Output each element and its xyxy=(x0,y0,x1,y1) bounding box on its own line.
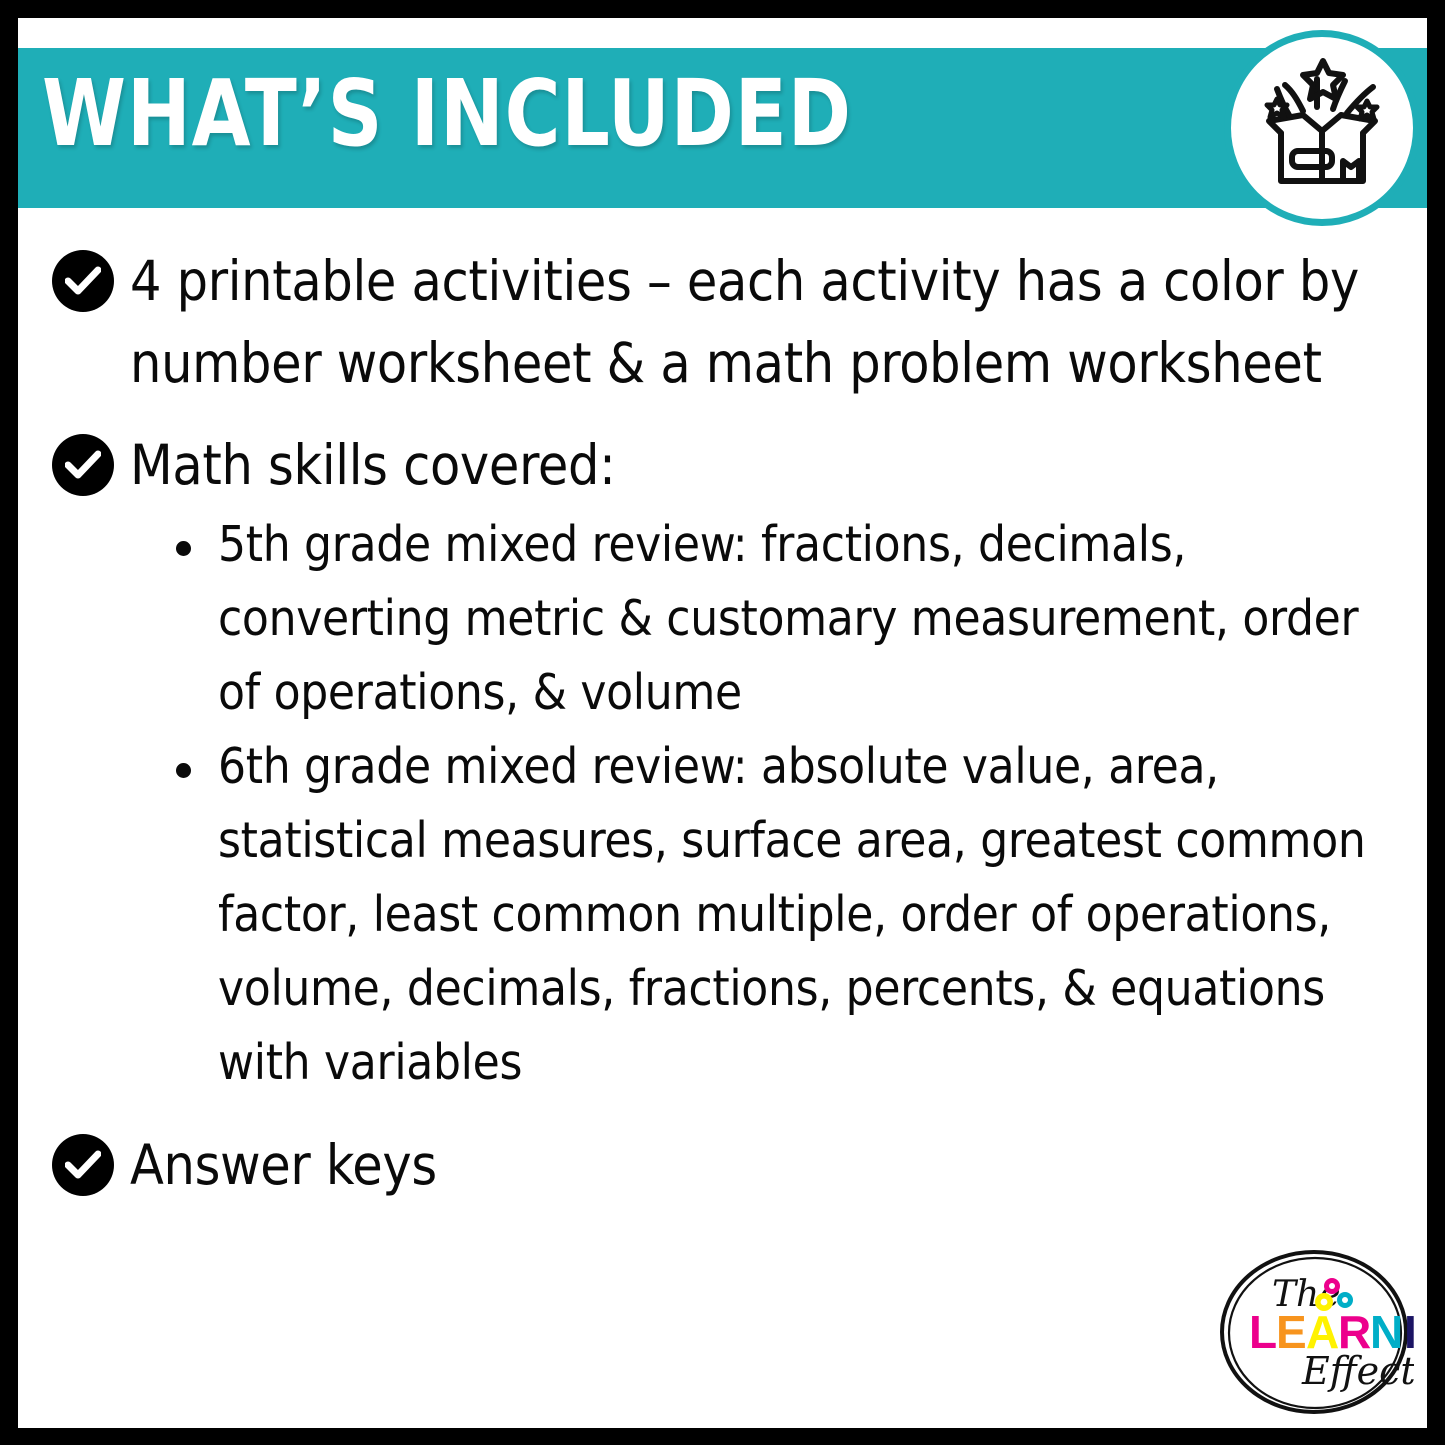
check-circle-icon xyxy=(52,1134,114,1196)
sub-list-item: 6th grade mixed review: absolute value, … xyxy=(170,730,1372,1100)
brand-logo: The L E A R N xyxy=(1214,1250,1414,1418)
math-skills-sublist: 5th grade mixed review: fractions, decim… xyxy=(18,508,1427,1100)
list-item: Math skills covered: xyxy=(18,424,1427,506)
white-card: WHAT’S INCLUDED xyxy=(18,18,1427,1428)
list-item-label: Answer keys xyxy=(130,1124,437,1206)
check-circle-icon xyxy=(52,250,114,312)
page-title: WHAT’S INCLUDED xyxy=(42,68,852,160)
whats-included-list: 4 printable activities – each activity h… xyxy=(18,240,1427,1206)
svg-text:.: . xyxy=(1214,1250,1227,1260)
list-item-label: Math skills covered: xyxy=(130,424,616,506)
list-item-label: 4 printable activities – each activity h… xyxy=(130,240,1387,404)
slide-root: WHAT’S INCLUDED xyxy=(0,0,1445,1445)
list-item: Answer keys xyxy=(18,1124,1427,1206)
logo-line3: Effect xyxy=(1301,1349,1414,1393)
list-item: 4 printable activities – each activity h… xyxy=(18,240,1427,404)
sub-list-item: 5th grade mixed review: fractions, decim… xyxy=(170,508,1372,730)
svg-text:L: L xyxy=(1249,1306,1277,1358)
open-box-with-confetti-icon xyxy=(1224,30,1420,226)
check-circle-icon xyxy=(52,434,114,496)
